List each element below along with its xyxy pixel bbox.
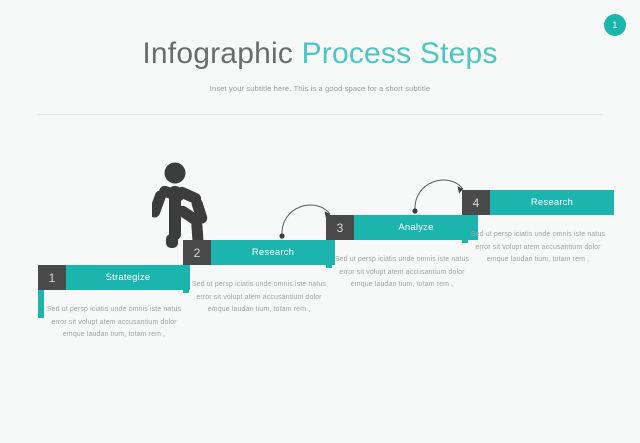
step-bar-4[interactable]: 4 Research xyxy=(462,190,614,215)
process-step-2[interactable]: 2 Research Sed ut persp iciatis unde omn… xyxy=(183,240,335,317)
step-bar-3[interactable]: 3 Analyze xyxy=(326,215,478,240)
process-step-3[interactable]: 3 Analyze Sed ut persp iciatis unde omni… xyxy=(326,215,478,292)
step-body-1: Sed ut persp iciatis unde omnis iste nat… xyxy=(38,304,190,342)
step-body-3: Sed ut persp iciatis unde omnis iste nat… xyxy=(326,254,478,292)
step-number-2: 2 xyxy=(183,240,211,265)
process-step-1[interactable]: 1 Strategize Sed ut persp iciatis unde o… xyxy=(38,265,190,342)
step-label-3: Analyze xyxy=(354,215,478,240)
step-number-1: 1 xyxy=(38,265,66,290)
step-number-3: 3 xyxy=(326,215,354,240)
step-riser-3 xyxy=(326,240,332,268)
step-riser-2 xyxy=(183,265,189,293)
step-number-4: 4 xyxy=(462,190,490,215)
step-label-2: Research xyxy=(211,240,335,265)
step-body-2: Sed ut persp iciatis unde omnis iste nat… xyxy=(183,279,335,317)
step-body-4: Sed ut persp iciatis unde omnis iste nat… xyxy=(462,229,614,267)
step-riser-1 xyxy=(38,290,44,318)
slide-canvas: 1 Infographic Process Steps Inset your s… xyxy=(0,0,640,443)
step-label-1: Strategize xyxy=(66,265,190,290)
process-step-4[interactable]: 4 Research Sed ut persp iciatis unde omn… xyxy=(462,190,614,267)
step-bar-2[interactable]: 2 Research xyxy=(183,240,335,265)
step-riser-4 xyxy=(462,215,468,243)
step-bar-1[interactable]: 1 Strategize xyxy=(38,265,190,290)
step-label-4: Research xyxy=(490,190,614,215)
process-steps-layer: 1 Strategize Sed ut persp iciatis unde o… xyxy=(0,0,640,443)
